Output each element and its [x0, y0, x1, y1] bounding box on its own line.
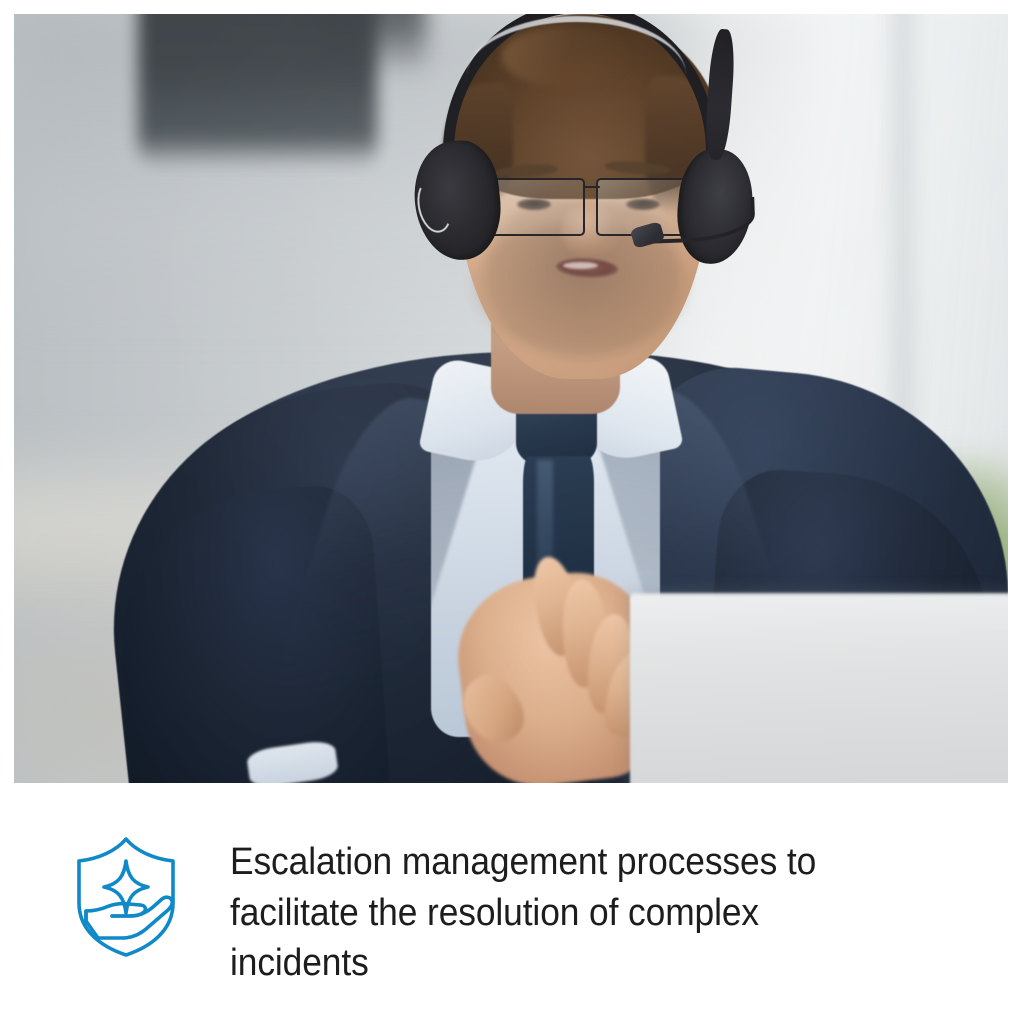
- feature-card: Escalation management processes to facil…: [0, 0, 1024, 1024]
- hand-fingers-top: [86, 904, 140, 921]
- caption-row: Escalation management processes to facil…: [0, 783, 1024, 1024]
- caption-text: Escalation management processes to facil…: [230, 835, 881, 989]
- hero-photo: [14, 14, 1008, 783]
- laptop-lid: [630, 595, 1008, 783]
- shield-hand-sparkle-icon: [68, 835, 184, 959]
